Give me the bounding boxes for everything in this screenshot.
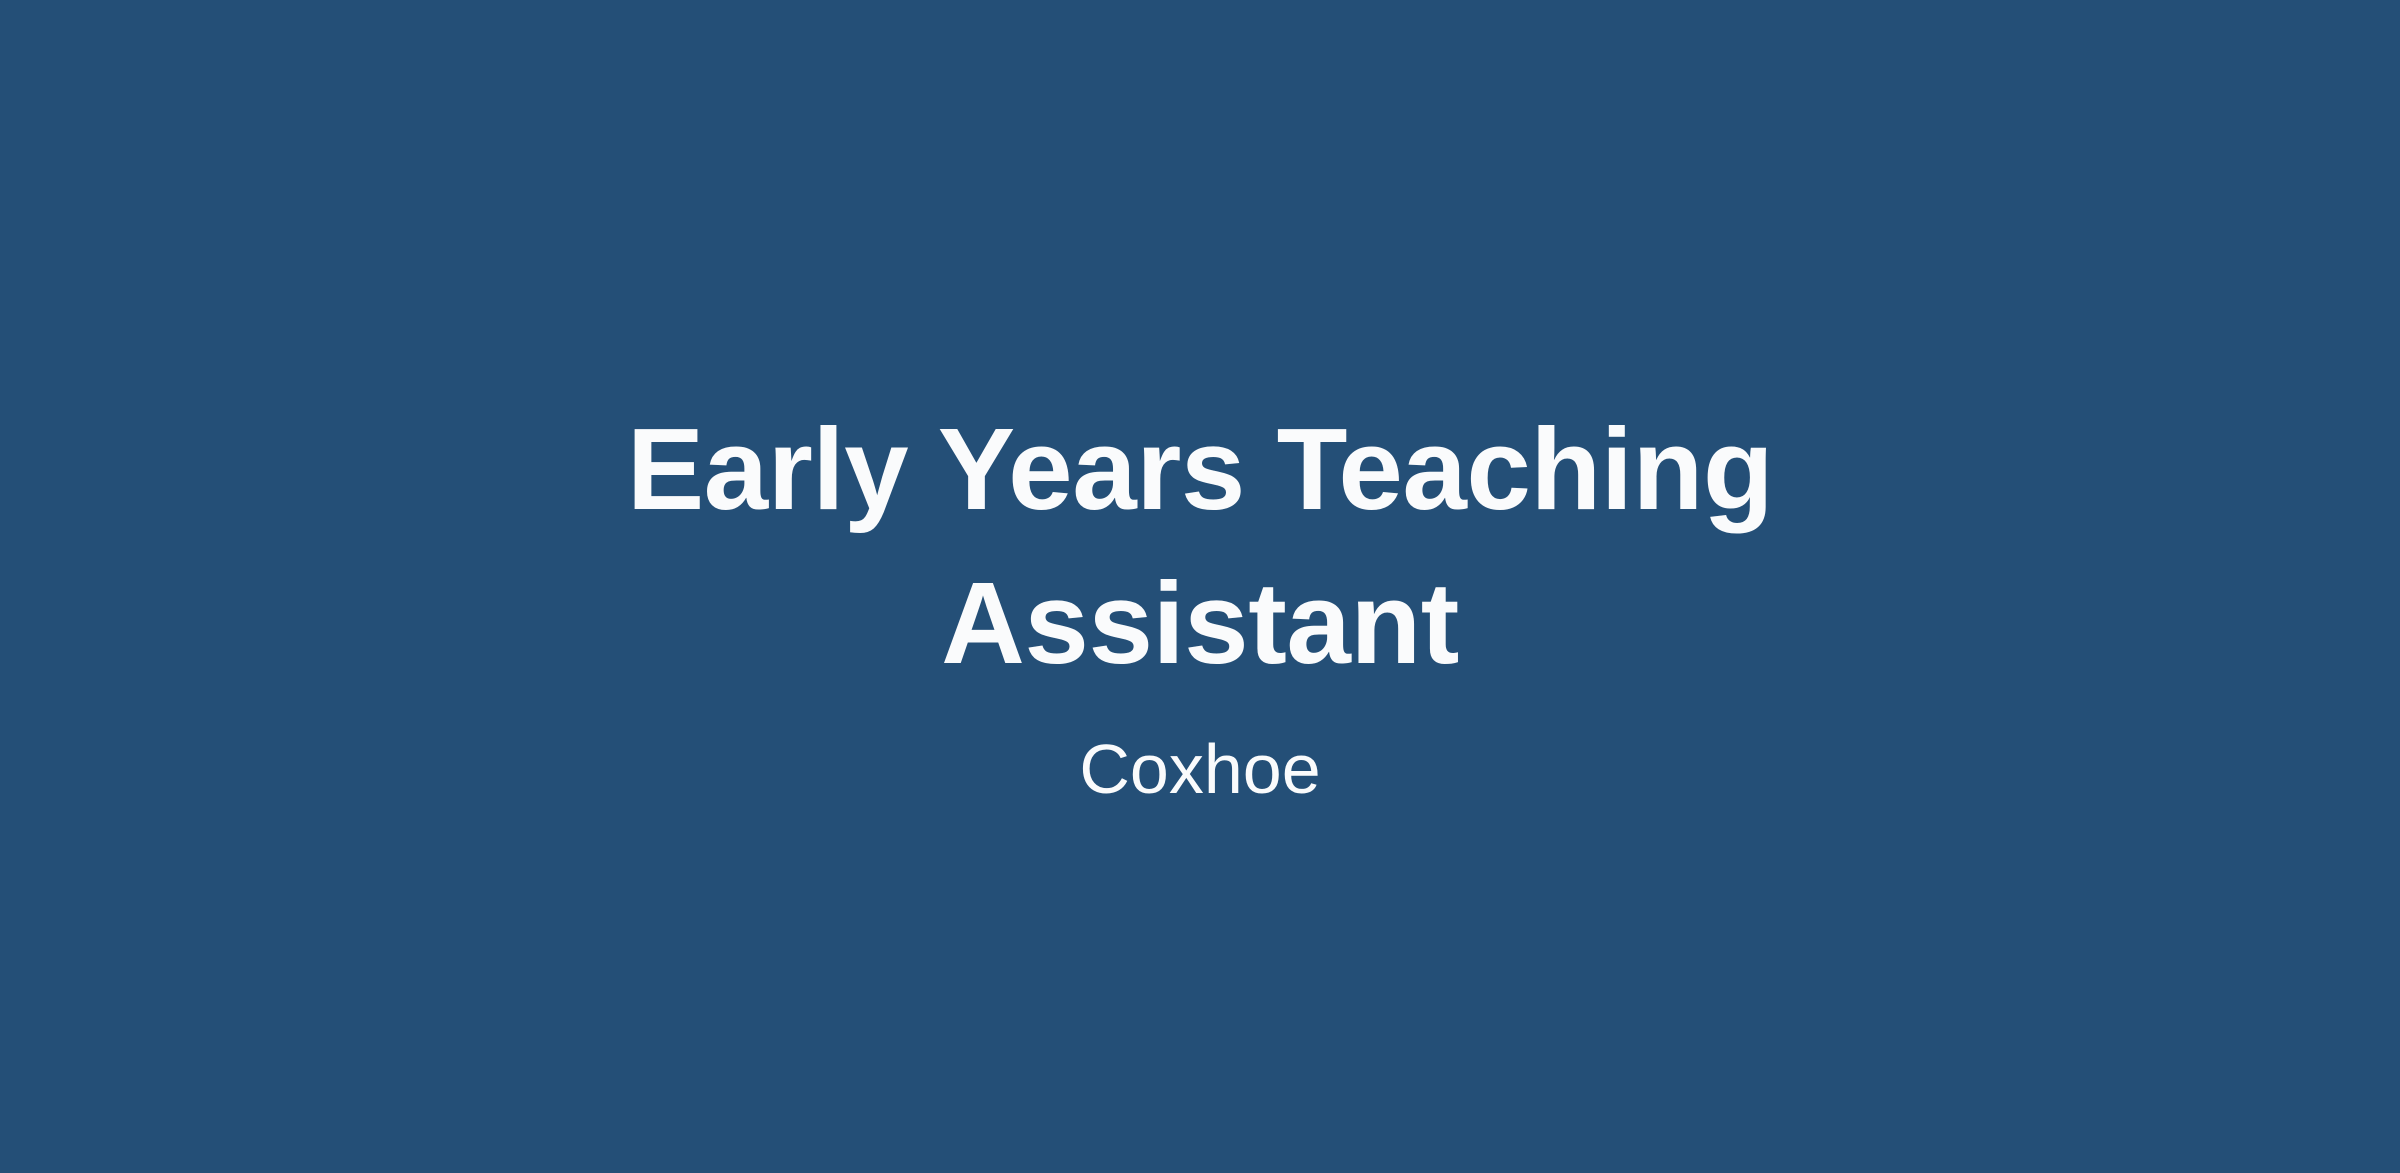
page-title: Early Years Teaching Assistant	[593, 392, 1808, 700]
location-subtitle: Coxhoe	[1079, 700, 1320, 810]
hero-text-block: Early Years Teaching Assistant Coxhoe	[570, 392, 1830, 810]
hero-card: Early Years Teaching Assistant Coxhoe	[0, 0, 2400, 1173]
